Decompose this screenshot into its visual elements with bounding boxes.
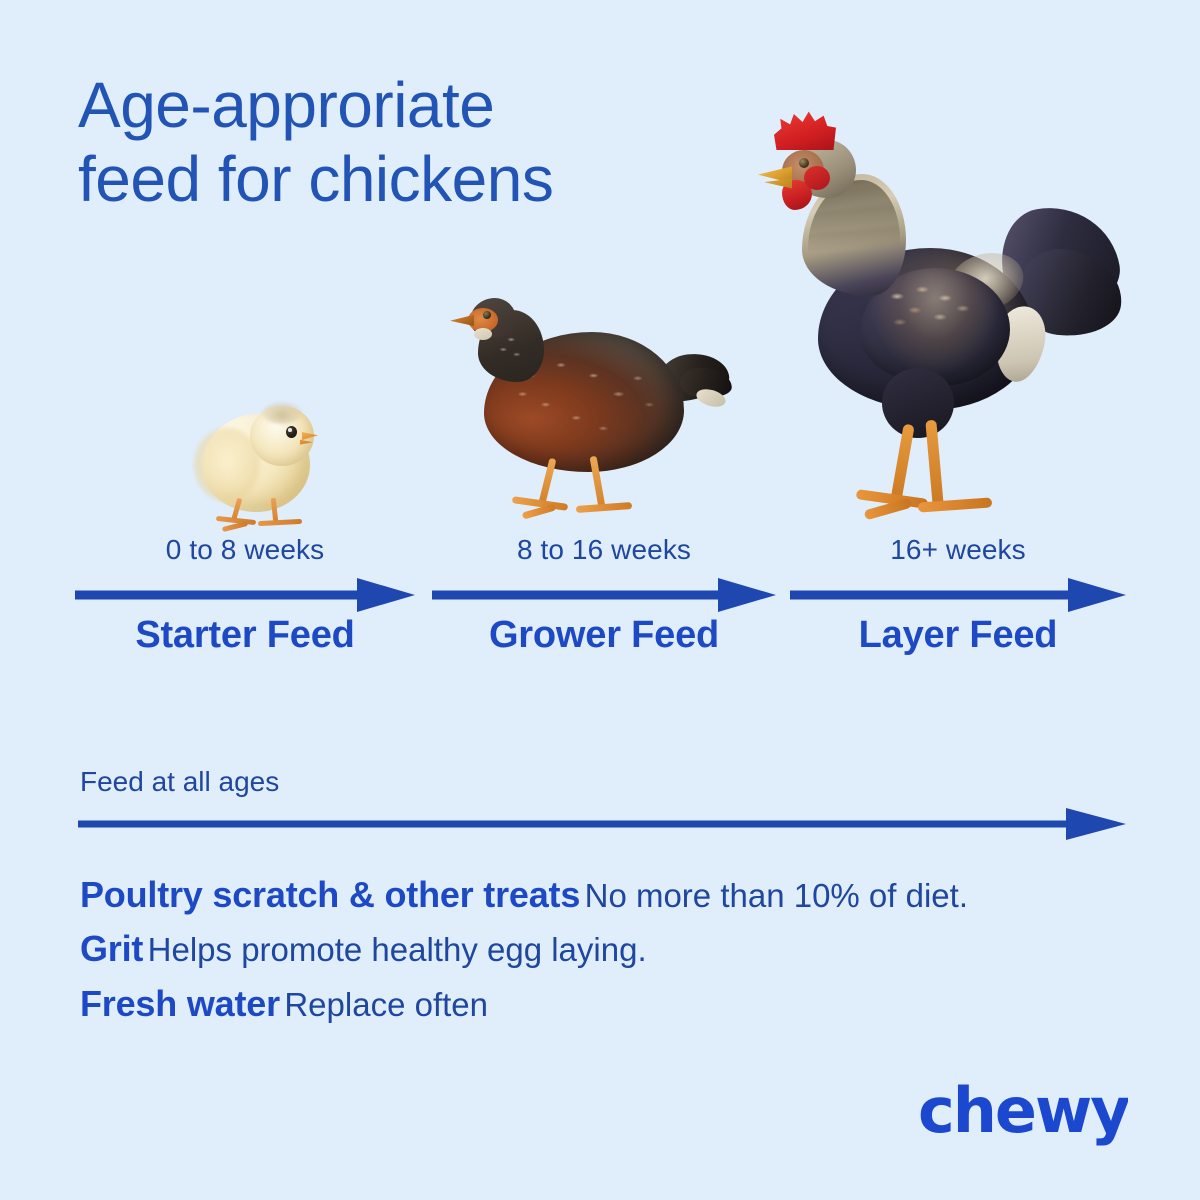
all-ages-arrow-icon	[78, 808, 1126, 840]
hen-eye	[799, 158, 809, 168]
note-term: Fresh water	[80, 983, 280, 1024]
hen-thigh	[882, 368, 954, 438]
list-item: Fresh water Replace often	[80, 983, 1140, 1025]
feed-stage-row: 0 to 8 weeks Starter Feed 8 to 16 weeks …	[0, 534, 1200, 684]
note-term: Grit	[80, 928, 143, 969]
chicken-illustration-row	[0, 60, 1200, 540]
note-description: No more than 10% of diet.	[585, 877, 968, 914]
stage-feed-name: Grower Feed	[432, 614, 776, 657]
stage-arrow-icon	[75, 578, 415, 612]
stage-feed-name: Layer Feed	[790, 614, 1126, 657]
hen-leg-left	[890, 424, 914, 503]
stage-age-label: 8 to 16 weeks	[432, 534, 776, 566]
list-item: Grit Helps promote healthy egg laying.	[80, 928, 1140, 970]
chick-eye	[286, 426, 297, 438]
note-term: Poultry scratch & other treats	[80, 874, 580, 915]
hen-foot-right	[918, 497, 993, 512]
pullet-foot-right	[576, 502, 632, 513]
pullet-chicken-illustration	[452, 290, 752, 540]
note-description: Helps promote healthy egg laying.	[148, 931, 647, 968]
list-item: Poultry scratch & other treats No more t…	[80, 874, 1140, 916]
hen-wattle-upper	[804, 166, 830, 190]
pullet-beak	[450, 314, 474, 327]
hen-comb-icon	[774, 110, 836, 150]
stage-feed-name: Starter Feed	[75, 614, 415, 657]
chick-foot-right	[258, 519, 302, 526]
hen-wing-speckles	[872, 274, 998, 360]
stage-age-label: 16+ weeks	[790, 534, 1126, 566]
stage-arrow-icon	[432, 578, 776, 612]
chewy-wordmark: chewy	[918, 1076, 1128, 1147]
stage-arrow-icon	[790, 578, 1126, 612]
hen-leg-right	[925, 420, 943, 507]
baby-chick-illustration	[188, 398, 338, 538]
chewy-logo: chewy	[918, 1076, 1128, 1148]
all-ages-notes-list: Poultry scratch & other treats No more t…	[80, 874, 1140, 1037]
pullet-eye	[483, 311, 491, 319]
chick-crown	[262, 402, 302, 424]
note-description: Replace often	[284, 986, 488, 1023]
pullet-wattle	[474, 328, 492, 340]
adult-hen-illustration	[752, 88, 1132, 540]
infographic-canvas: Age-approriate feed for chickens	[0, 0, 1200, 1200]
all-ages-caption: Feed at all ages	[80, 766, 279, 798]
stage-age-label: 0 to 8 weeks	[75, 534, 415, 566]
